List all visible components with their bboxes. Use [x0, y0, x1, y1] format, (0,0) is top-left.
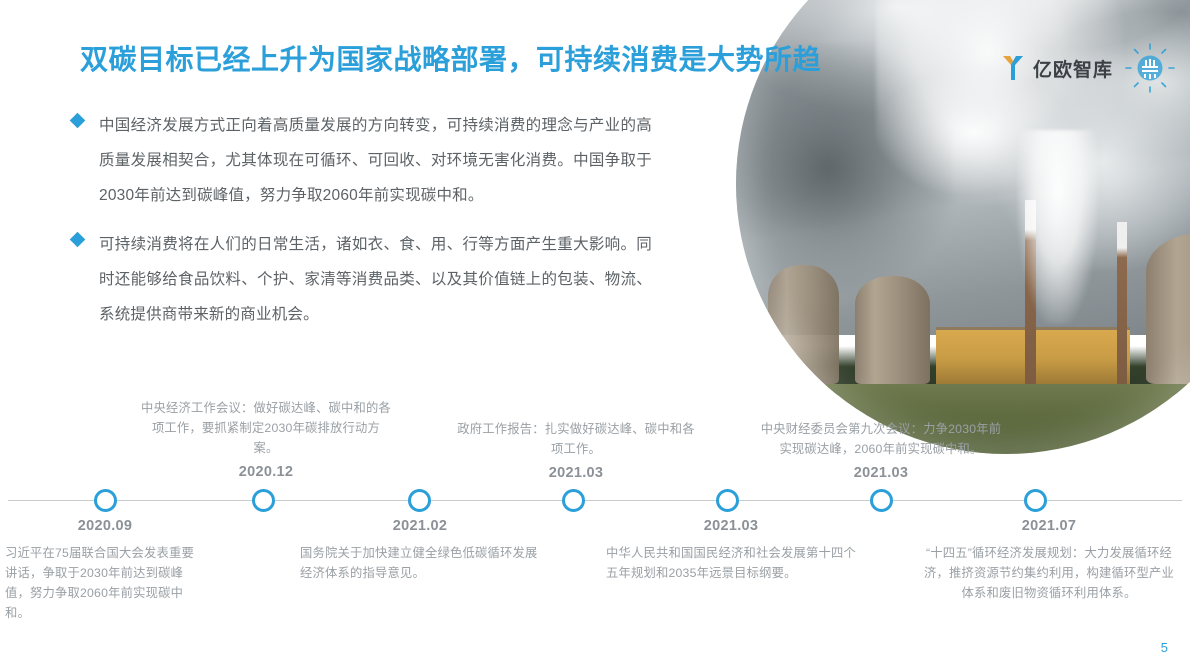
timeline-description: 中央经济工作会议：做好碳达峰、碳中和的各项工作，要抓紧制定2030年碳排放行动方…	[140, 398, 392, 458]
timeline-dot[interactable]	[94, 489, 117, 512]
timeline-date: 2020.12	[140, 464, 392, 480]
diamond-bullet-icon	[70, 232, 86, 248]
bullet-text: 中国经济发展方式正向着高质量发展的方向转变，可持续消费的理念与产业的高质量发展相…	[99, 108, 652, 213]
timeline-axis	[8, 500, 1182, 501]
timeline-date: 2021.03	[756, 465, 1006, 481]
slide-canvas: 双碳目标已经上升为国家战略部署，可持续消费是大势所趋 亿欧智库	[0, 0, 1190, 669]
list-item: 中国经济发展方式正向着高质量发展的方向转变，可持续消费的理念与产业的高质量发展相…	[72, 108, 652, 213]
timeline-event-2021-03-committee: 中央财经委员会第九次会议：力争2030年前实现碳达峰，2060年前实现碳中和。 …	[756, 419, 1006, 481]
page-number: 5	[1161, 640, 1168, 655]
timeline-description: 中华人民共和国国民经济和社会发展第十四个五年规划和2035年远景目标纲要。	[606, 543, 856, 583]
photo-smoke-plume	[1017, 130, 1098, 324]
timeline-dot[interactable]	[562, 489, 585, 512]
timeline-dot[interactable]	[252, 489, 275, 512]
photo-smokestack-2	[1117, 222, 1128, 384]
carbon-neutral-emblem-icon	[1124, 42, 1176, 94]
photo-cooling-tower-3	[1146, 233, 1190, 384]
brand-logo: 亿欧智库	[1002, 42, 1176, 94]
timeline-date: 2021.03	[452, 465, 700, 481]
bullet-list: 中国经济发展方式正向着高质量发展的方向转变，可持续消费的理念与产业的高质量发展相…	[72, 108, 652, 346]
timeline-description: 政府工作报告：扎实做好碳达峰、碳中和各项工作。	[452, 419, 700, 459]
photo-cooling-tower-2	[855, 276, 931, 384]
timeline-description: 中央财经委员会第九次会议：力争2030年前实现碳达峰，2060年前实现碳中和。	[756, 419, 1006, 459]
bullet-text: 可持续消费将在人们的日常生活，诸如衣、食、用、行等方面产生重大影响。同时还能够给…	[99, 227, 652, 332]
timeline-event-2021-07: 2021.07 “十四五”循环经济发展规划：大力发展循环经济，推挤资源节约集约利…	[920, 518, 1178, 603]
timeline-dot[interactable]	[870, 489, 893, 512]
timeline-date: 2021.03	[606, 518, 856, 534]
timeline-event-2020-09: 2020.09 习近平在75届联合国大会发表重要讲话，争取于2030年前达到碳峰…	[5, 518, 205, 623]
timeline-event-2020-12: 中央经济工作会议：做好碳达峰、碳中和的各项工作，要抓紧制定2030年碳排放行动方…	[140, 398, 392, 480]
timeline-date: 2020.09	[5, 518, 205, 534]
page-title: 双碳目标已经上升为国家战略部署，可持续消费是大势所趋	[80, 38, 821, 78]
brand-logo-text: 亿欧智库	[1033, 55, 1113, 82]
timeline-event-2021-03-report: 政府工作报告：扎实做好碳达峰、碳中和各项工作。 2021.03	[452, 419, 700, 481]
timeline-description: 国务院关于加快建立健全绿色低碳循环发展经济体系的指导意见。	[300, 543, 540, 583]
timeline-dot[interactable]	[408, 489, 431, 512]
timeline-dot[interactable]	[1024, 489, 1047, 512]
timeline-description: “十四五”循环经济发展规划：大力发展循环经济，推挤资源节约集约利用，构建循环型产…	[920, 543, 1178, 603]
yi-ou-y-mark-icon	[1002, 55, 1024, 81]
photo-cooling-tower-1	[768, 265, 838, 384]
diamond-bullet-icon	[70, 113, 86, 129]
timeline-description: 习近平在75届联合国大会发表重要讲话，争取于2030年前达到碳峰值，努力争取20…	[5, 543, 205, 623]
timeline-date: 2021.02	[300, 518, 540, 534]
timeline-dot[interactable]	[716, 489, 739, 512]
timeline-event-2021-03-plan: 2021.03 中华人民共和国国民经济和社会发展第十四个五年规划和2035年远景…	[606, 518, 856, 583]
timeline-date: 2021.07	[920, 518, 1178, 534]
list-item: 可持续消费将在人们的日常生活，诸如衣、食、用、行等方面产生重大影响。同时还能够给…	[72, 227, 652, 332]
timeline-event-2021-02: 2021.02 国务院关于加快建立健全绿色低碳循环发展经济体系的指导意见。	[300, 518, 540, 583]
